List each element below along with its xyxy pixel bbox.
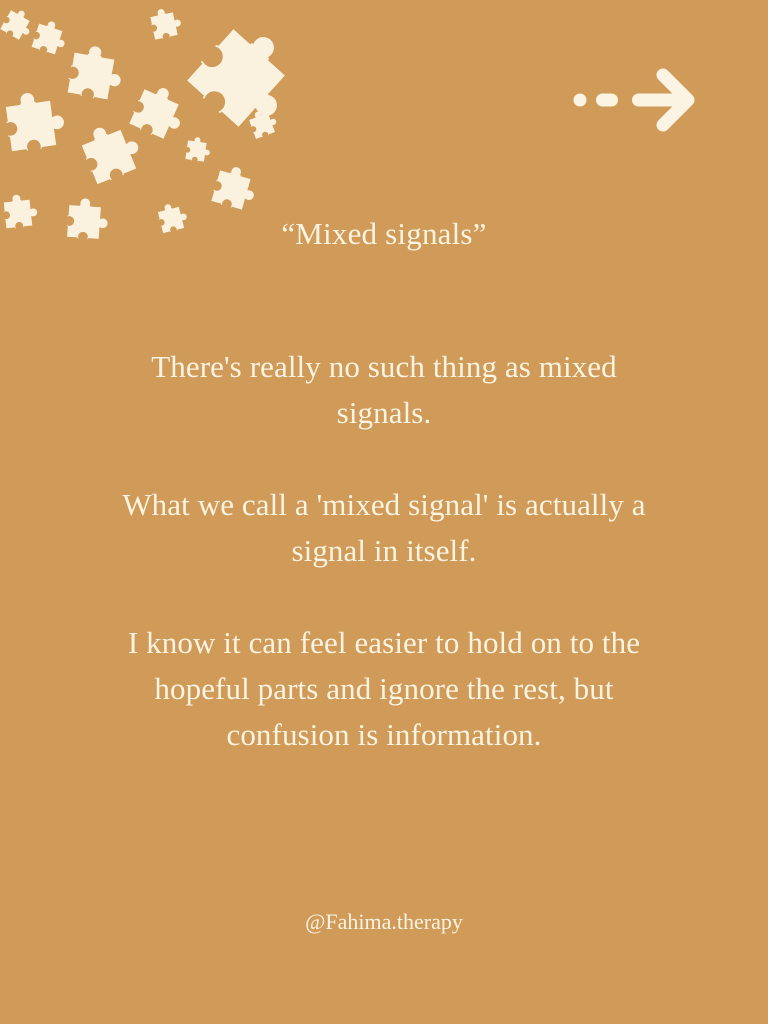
quote-paragraph-3: I know it can feel easier to hold on to … (104, 620, 664, 758)
paragraph-spacer (104, 436, 664, 482)
quote-body: There's really no such thing as mixed si… (104, 344, 664, 758)
puzzle-piece-icon (0, 5, 37, 43)
arrow-right-icon[interactable] (570, 62, 700, 134)
puzzle-piece-icon (184, 15, 309, 140)
puzzle-piece-icon (3, 88, 67, 152)
puzzle-piece-icon (247, 107, 280, 140)
puzzle-piece-icon (31, 18, 70, 57)
paragraph-spacer (104, 574, 664, 620)
puzzle-piece-icon (66, 43, 126, 103)
puzzle-piece-icon (210, 163, 260, 213)
quote-paragraph-2: What we call a 'mixed signal' is actuall… (104, 482, 664, 574)
quote-title: “Mixed signals” (0, 214, 768, 254)
puzzle-piece-icon (148, 6, 183, 41)
puzzle-piece-icon (128, 80, 191, 143)
puzzle-piece-icon (185, 136, 212, 163)
puzzle-piece-icon (77, 117, 146, 186)
account-handle: @Fahima.therapy (0, 907, 768, 937)
quote-card: “Mixed signals” There's really no such t… (0, 0, 768, 1024)
quote-paragraph-1: There's really no such thing as mixed si… (104, 344, 664, 436)
